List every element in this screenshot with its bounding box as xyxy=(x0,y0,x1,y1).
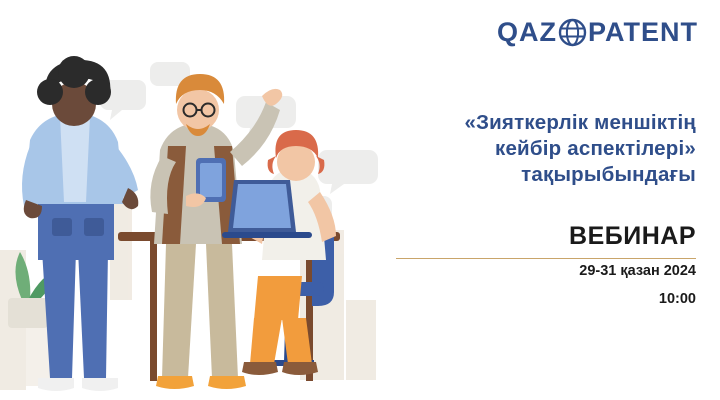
logo-text-right: PATENT xyxy=(588,19,698,46)
headline-line-3: тақырыбындағы xyxy=(336,162,696,188)
headline-line-2: кейбір аспектілері» xyxy=(336,136,696,162)
event-date: 29-31 қазан 2024 xyxy=(336,258,696,286)
logo-text-left: QAZ xyxy=(497,19,557,46)
illustration xyxy=(0,0,430,400)
brand-logo: QAZ PATENT xyxy=(497,18,698,47)
event-type-label: ВЕБИНАР xyxy=(336,222,696,251)
headline-line-1: «Зияткерлік меншіктің xyxy=(336,110,696,136)
headline: «Зияткерлік меншіктің кейбір аспектілері… xyxy=(336,110,696,188)
webinar-poster: QAZ PATENT «Зияткерлік меншіктің кейбір … xyxy=(0,0,720,400)
event-datetime: 29-31 қазан 2024 10:00 xyxy=(336,258,696,313)
event-time: 10:00 xyxy=(336,286,696,314)
bottom-bar xyxy=(0,392,720,400)
globe-icon xyxy=(558,18,587,47)
